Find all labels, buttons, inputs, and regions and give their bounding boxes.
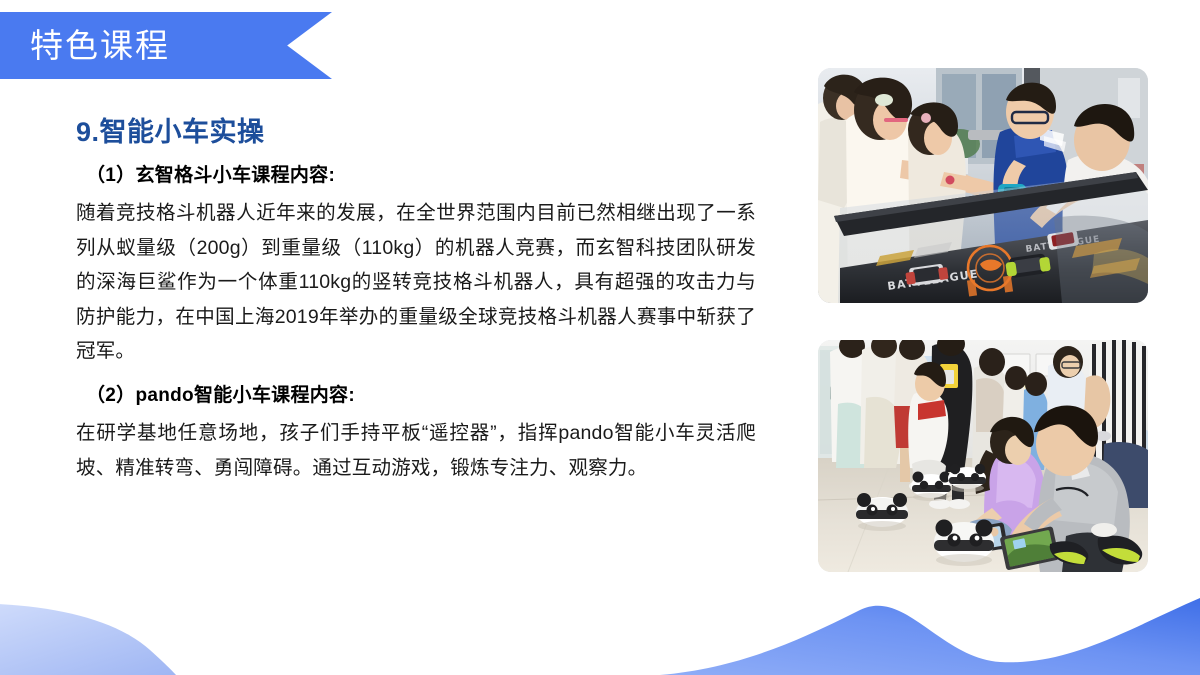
- decor-blob-left: [0, 603, 176, 675]
- ribbon-label: 特色课程: [30, 12, 170, 79]
- content-column: 9.智能小车实操 （1）玄智格斗小车课程内容: 随着竞技格斗机器人近年来的发展，…: [76, 116, 756, 493]
- slide-root: 特色课程 9.智能小车实操 （1）玄智格斗小车课程内容: 随着竞技格斗机器人近年…: [0, 0, 1200, 675]
- subheading-1: （1）玄智格斗小车课程内容:: [76, 162, 756, 190]
- pando-car: [934, 520, 994, 567]
- paragraph-2: 在研学基地任意场地，孩子们手持平板“遥控器”，指挥pando智能小车灵活爬坡、精…: [76, 416, 756, 485]
- pando-car: [948, 464, 986, 492]
- paragraph-1: 随着竞技格斗机器人近年来的发展，在全世界范围内目前已然相继出现了一系列从蚁量级（…: [76, 196, 756, 369]
- header-ribbon: 特色课程: [0, 12, 332, 79]
- photo-battle-arena: BATTLEAGUE BATTLEAGUE: [818, 68, 1148, 303]
- pando-car: [911, 472, 951, 502]
- pando-car: [856, 493, 908, 531]
- photo-pando-cars: [818, 340, 1148, 572]
- page-title: 9.智能小车实操: [76, 116, 756, 150]
- decor-wave-right: [660, 598, 1200, 675]
- subheading-2: （2）pando智能小车课程内容:: [76, 382, 756, 410]
